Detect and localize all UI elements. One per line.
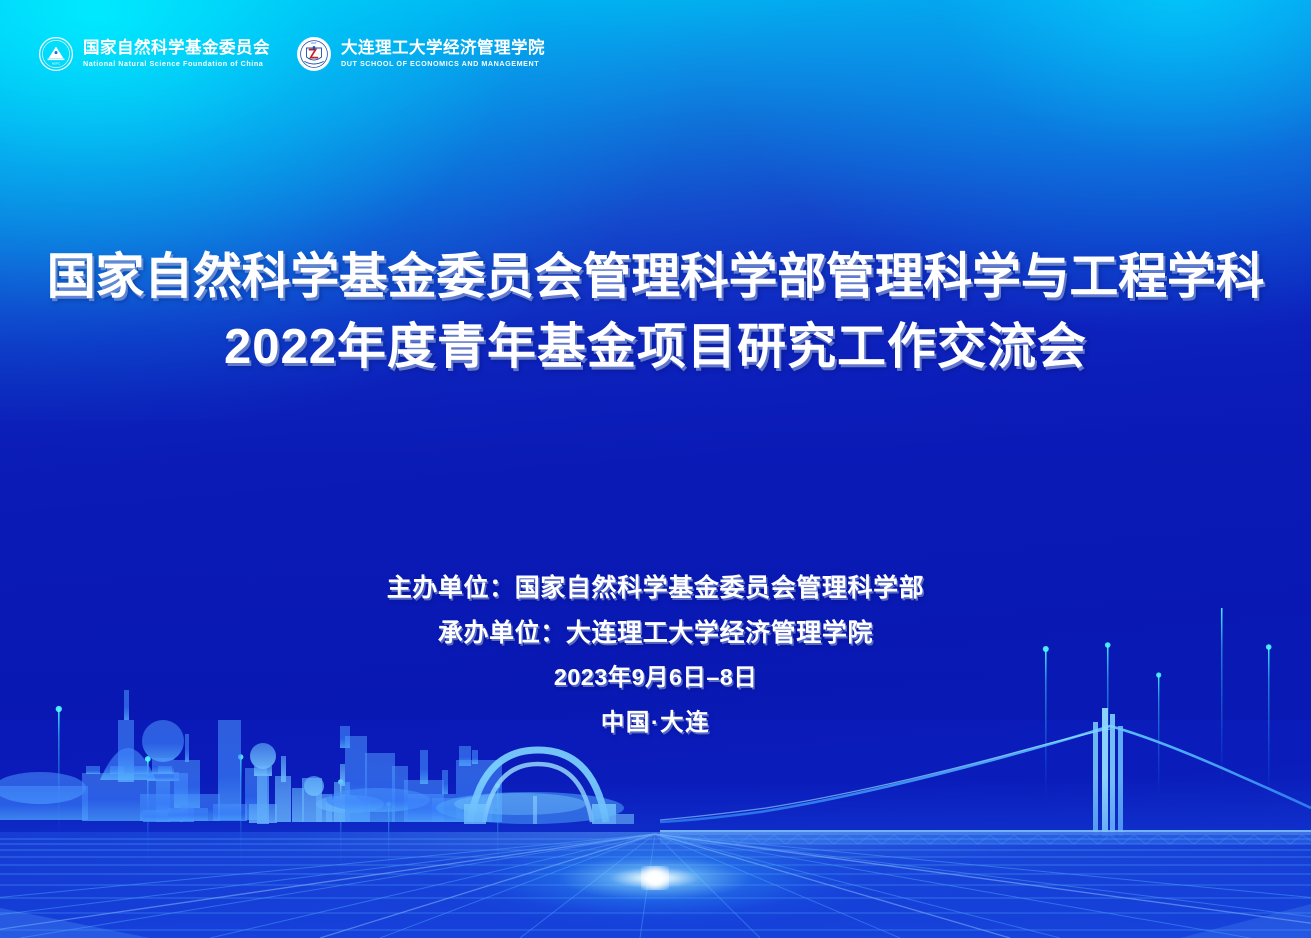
logo-dut-sem: DUT 大连理工大学经济管理学院 DUT SCHOOL OF ECONOMICS… <box>296 36 545 72</box>
dut-sem-emblem-icon: DUT <box>296 36 332 72</box>
nsfc-emblem-icon: NSFC <box>38 36 74 72</box>
svg-text:DUT: DUT <box>311 42 317 45</box>
conference-details: 主办单位：国家自然科学基金委员会管理科学部 承办单位：大连理工大学经济管理学院 … <box>0 566 1311 743</box>
logo-nsfc: NSFC 国家自然科学基金委员会 National Natural Scienc… <box>38 36 270 72</box>
background-gradient <box>0 0 1311 938</box>
dut-sem-name-cn: 大连理工大学经济管理学院 <box>341 40 545 57</box>
location-line: 中国·大连 <box>0 701 1311 743</box>
logo-bar: NSFC 国家自然科学基金委员会 National Natural Scienc… <box>38 36 545 72</box>
title-line-2: 2022年度青年基金项目研究工作交流会 <box>0 313 1311 383</box>
date-line: 2023年9月6日–8日 <box>0 655 1311 701</box>
dut-sem-logo-text: 大连理工大学经济管理学院 DUT SCHOOL OF ECONOMICS AND… <box>341 40 545 67</box>
nsfc-logo-text: 国家自然科学基金委员会 National Natural Science Fou… <box>83 40 270 67</box>
conference-banner: NSFC 国家自然科学基金委员会 National Natural Scienc… <box>0 0 1311 938</box>
nsfc-name-en: National Natural Science Foundation of C… <box>83 60 270 67</box>
svg-text:NSFC: NSFC <box>52 61 61 65</box>
title-line-1: 国家自然科学基金委员会管理科学部管理科学与工程学科 <box>0 243 1311 313</box>
nsfc-name-cn: 国家自然科学基金委员会 <box>83 40 270 57</box>
conference-title: 国家自然科学基金委员会管理科学部管理科学与工程学科 2022年度青年基金项目研究… <box>0 243 1311 382</box>
organizer-line: 主办单位：国家自然科学基金委员会管理科学部 <box>0 566 1311 611</box>
host-line: 承办单位：大连理工大学经济管理学院 <box>0 611 1311 656</box>
dut-sem-name-en: DUT SCHOOL OF ECONOMICS AND MANAGEMENT <box>341 60 545 67</box>
